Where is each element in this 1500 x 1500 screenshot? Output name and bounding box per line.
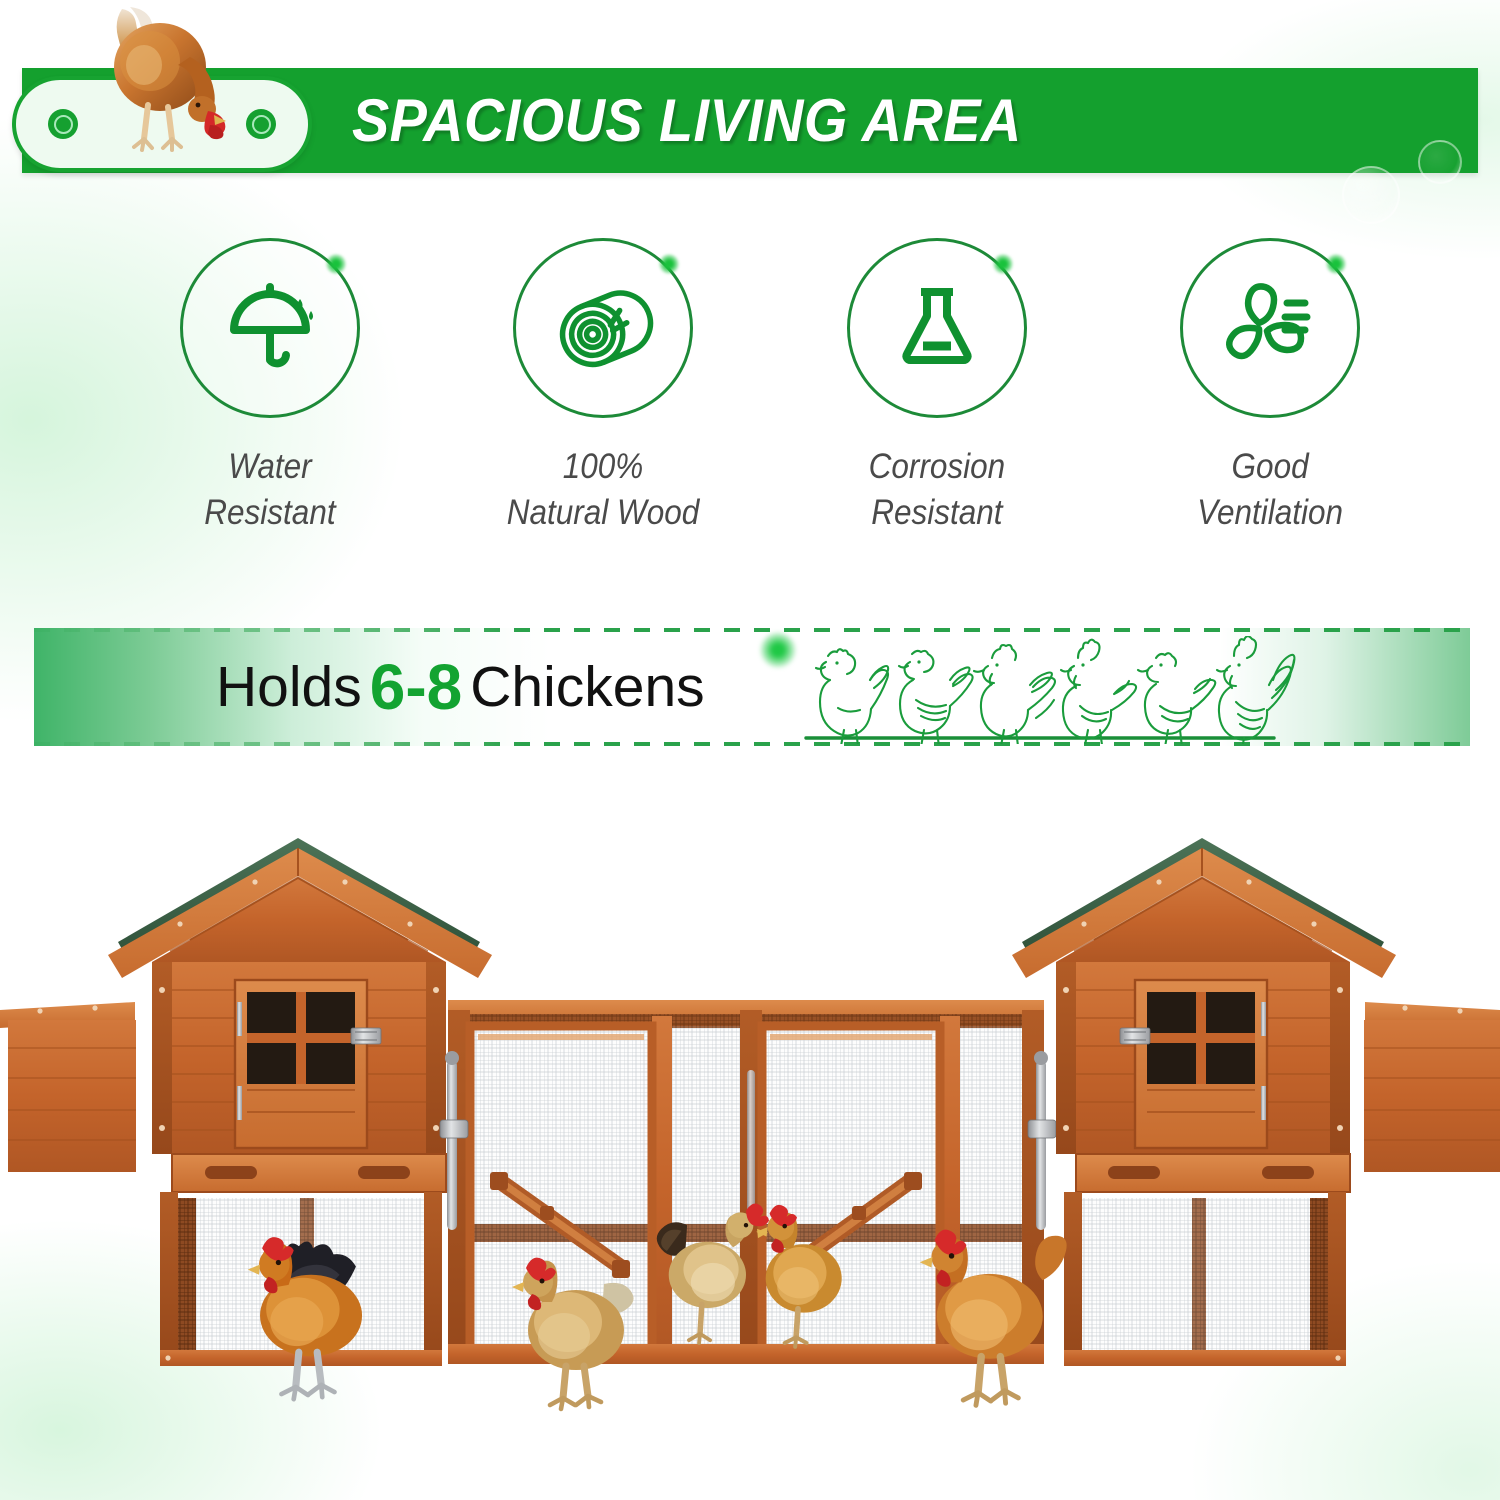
chicken-line-art-row-icon xyxy=(804,636,1314,744)
label-line-1: Corrosion xyxy=(868,444,1005,490)
label-line-1: Good xyxy=(1197,444,1343,490)
feature-item-good-ventilation: Good Ventilation xyxy=(1120,238,1420,535)
capacity-prefix: Holds xyxy=(216,654,362,720)
capacity-text: Holds 6-8 Chickens xyxy=(216,628,705,746)
feature-label-natural-wood: 100% Natural Wood xyxy=(507,444,700,535)
glow-dot-icon xyxy=(760,632,796,668)
window-latch xyxy=(1120,1028,1150,1044)
label-line-2: Ventilation xyxy=(1197,490,1343,536)
hen-photo-icon xyxy=(78,5,246,170)
left-nest-box xyxy=(0,1002,136,1172)
feature-circle-water-resistant xyxy=(180,238,360,418)
feature-label-corrosion-resistant: Corrosion Resistant xyxy=(868,444,1005,535)
feature-label-water-resistant: Water Resistant xyxy=(204,444,335,535)
capacity-suffix: Chickens xyxy=(470,654,704,720)
right-coop-house xyxy=(1012,838,1396,1366)
feature-row: Water Resistant xyxy=(120,238,1420,548)
product-image-chicken-coop xyxy=(0,820,1500,1440)
label-line-1: 100% xyxy=(507,444,700,490)
feature-item-water-resistant: Water Resistant xyxy=(120,238,420,535)
lab-flask-icon xyxy=(847,238,1027,418)
label-line-1: Water xyxy=(204,444,335,490)
feature-item-corrosion-resistant: Corrosion Resistant xyxy=(787,238,1087,535)
screw-left-icon xyxy=(48,109,78,139)
feature-circle-corrosion-resistant xyxy=(847,238,1027,418)
feature-label-good-ventilation: Good Ventilation xyxy=(1197,444,1343,535)
feature-circle-natural-wood xyxy=(513,238,693,418)
bubble-large-icon xyxy=(1342,166,1400,224)
fan-airflow-icon xyxy=(1180,238,1360,418)
screw-right-icon xyxy=(246,109,276,139)
page-title: SPACIOUS LIVING AREA xyxy=(352,68,1022,173)
feature-circle-good-ventilation xyxy=(1180,238,1360,418)
capacity-banner: Holds 6-8 Chickens xyxy=(34,628,1470,746)
wood-log-rings-icon xyxy=(513,238,693,418)
umbrella-raindrop-icon xyxy=(180,238,360,418)
bubble-small-icon xyxy=(1418,140,1462,184)
window-latch xyxy=(351,1028,381,1044)
photo-chicken-1 xyxy=(248,1237,362,1399)
capacity-count: 6-8 xyxy=(362,650,471,724)
label-line-2: Natural Wood xyxy=(507,490,700,536)
label-line-2: Resistant xyxy=(868,490,1005,536)
infographic-page: SPACIOUS LIVING AREA xyxy=(0,0,1500,1500)
feature-item-natural-wood: 100% Natural Wood xyxy=(453,238,753,535)
label-line-2: Resistant xyxy=(204,490,335,536)
right-nest-box xyxy=(1364,1002,1500,1172)
